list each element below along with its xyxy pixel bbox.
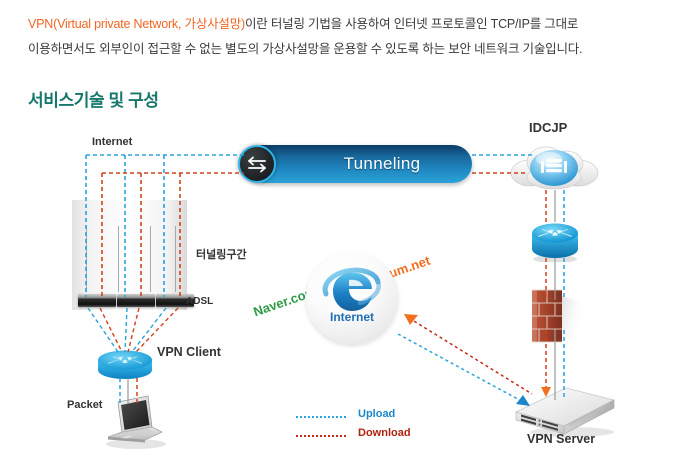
firewall [528, 288, 604, 357]
globe-upload-diagonal [398, 334, 525, 403]
vpn-client-label: VPN Client [157, 345, 221, 359]
upload-legend-label: Upload [358, 408, 395, 420]
upload-fan-2 [125, 308, 127, 352]
vpn-diagram-page: VPN(Virtual private Network, 가상사설망)이란 터널… [0, 0, 680, 474]
intro-line2: 이용하면서도 외부인이 접근할 수 없는 별도의 가상사설망을 운용할 수 있도… [28, 42, 582, 56]
internet-label: Internet [92, 136, 132, 148]
intro-rest-line1: 이란 터널링 기법을 사용하여 인터넷 프로토콜인 TCP/IP를 그대로 [245, 17, 578, 31]
client-laptop [100, 394, 170, 455]
adsl-label: ADSL [186, 296, 213, 307]
idcjp-cloud [508, 140, 600, 201]
idcjp-label: IDCJP [529, 120, 567, 135]
intro-highlight: VPN(Virtual private Network, 가상사설망) [28, 17, 245, 31]
section-heading: 서비스기술 및 구성 [28, 86, 159, 111]
upload-fan-1 [88, 308, 118, 352]
vpn-server [514, 386, 618, 443]
download-dash-swatch [296, 435, 346, 437]
tunneling-banner: Tunneling [244, 145, 472, 183]
idc-router [529, 220, 581, 267]
tunnel-region-label: 터널링구간 [196, 246, 247, 262]
download-arrow-globe [404, 314, 418, 325]
download-fan-2 [128, 308, 139, 352]
download-legend-label: Download [358, 427, 411, 439]
globe-caption: Internet [306, 310, 398, 324]
tunnel-rib [118, 226, 119, 292]
tunnel-rib [86, 226, 87, 292]
tunnel-rib [175, 226, 176, 292]
tunneling-label: Tunneling [302, 145, 462, 183]
packet-label: Packet [67, 399, 102, 411]
globe-download-diagonal [409, 318, 532, 394]
bidirectional-arrows-icon [238, 145, 276, 183]
tunnel-rib [150, 226, 151, 292]
adsl-modem [78, 294, 116, 307]
internet-globe: Internet [306, 252, 398, 344]
download-fan-1 [100, 308, 122, 352]
adsl-modem [117, 294, 155, 307]
intro-paragraph: VPN(Virtual private Network, 가상사설망)이란 터널… [28, 12, 638, 62]
vpn-client-router [96, 348, 154, 387]
upload-dash-swatch [296, 416, 346, 418]
